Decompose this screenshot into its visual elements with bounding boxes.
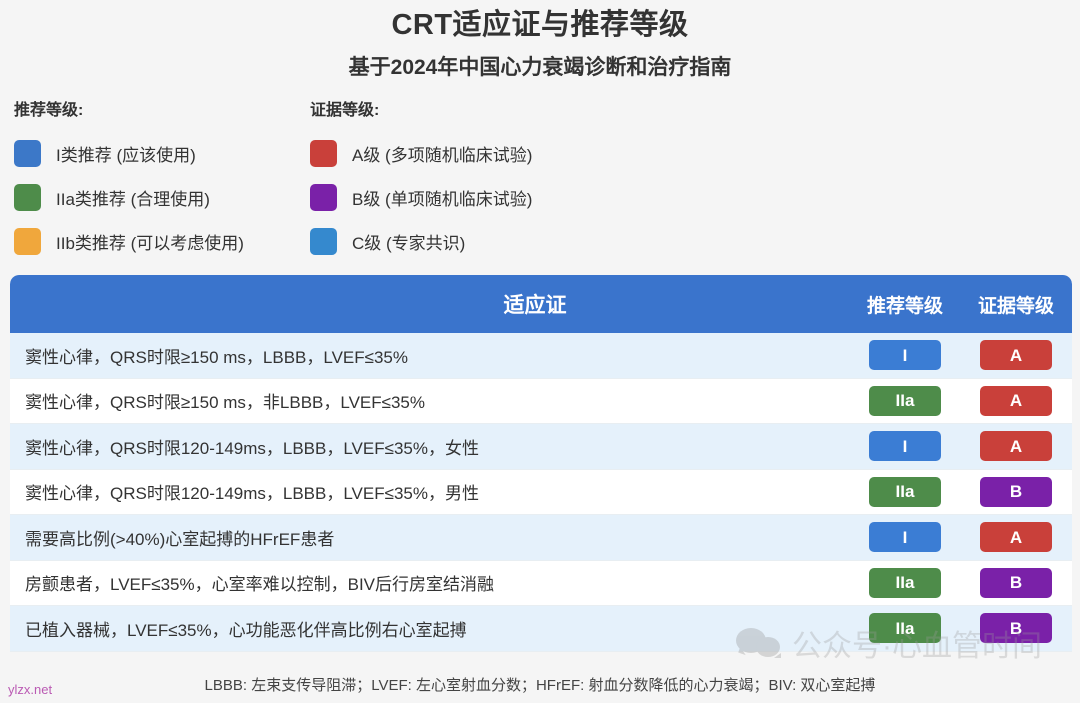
cell-evidence: A: [960, 340, 1072, 370]
footer-abbreviations: LBBB: 左束支传导阻滞；LVEF: 左心室射血分数；HFrEF: 射血分数降…: [0, 674, 1080, 695]
recommendation-badge: IIa: [869, 386, 941, 416]
evidence-badge: B: [980, 568, 1052, 598]
table-header-row: 适应证 推荐等级 证据等级: [10, 275, 1072, 333]
table-row: 窦性心律，QRS时限120-149ms，LBBB，LVEF≤35%，女性IA: [10, 424, 1072, 470]
cell-indication: 窦性心律，QRS时限120-149ms，LBBB，LVEF≤35%，男性: [10, 479, 850, 504]
legend-evidence: 证据等级: A级 (多项随机临床试验) B级 (单项随机临床试验) C级 (专家…: [310, 101, 532, 263]
cell-indication: 窦性心律，QRS时限≥150 ms，LBBB，LVEF≤35%: [10, 343, 850, 368]
legend-item-class-iia: IIa类推荐 (合理使用): [14, 175, 310, 219]
cell-indication: 已植入器械，LVEF≤35%，心功能恶化伴高比例右心室起搏: [10, 616, 850, 641]
swatch-level-b-icon: [310, 184, 337, 211]
legend-item-class-i: I类推荐 (应该使用): [14, 131, 310, 175]
page-title: CRT适应证与推荐等级: [0, 7, 1080, 43]
evidence-badge: A: [980, 386, 1052, 416]
site-watermark: ylzx.net: [8, 682, 52, 697]
table-body: 窦性心律，QRS时限≥150 ms，LBBB，LVEF≤35%IA窦性心律，QR…: [10, 333, 1072, 652]
table-row: 窦性心律，QRS时限≥150 ms，LBBB，LVEF≤35%IA: [10, 333, 1072, 379]
cell-indication: 窦性心律，QRS时限120-149ms，LBBB，LVEF≤35%，女性: [10, 434, 850, 459]
cell-recommendation: IIa: [850, 477, 960, 507]
indications-table: 适应证 推荐等级 证据等级 窦性心律，QRS时限≥150 ms，LBBB，LVE…: [10, 275, 1072, 652]
legend-item-class-iib: IIb类推荐 (可以考虑使用): [14, 219, 310, 263]
column-header-evidence: 证据等级: [960, 291, 1072, 318]
cell-evidence: A: [960, 431, 1072, 461]
cell-evidence: A: [960, 522, 1072, 552]
table-row: 需要高比例(>40%)心室起搏的HFrEF患者IA: [10, 515, 1072, 561]
cell-recommendation: I: [850, 522, 960, 552]
recommendation-badge: I: [869, 522, 941, 552]
table-row: 房颤患者，LVEF≤35%，心室率难以控制，BIV后行房室结消融IIaB: [10, 561, 1072, 607]
title-block: CRT适应证与推荐等级 基于2024年中国心力衰竭诊断和治疗指南: [0, 0, 1080, 82]
cell-recommendation: IIa: [850, 613, 960, 643]
legend-item-level-b: B级 (单项随机临床试验): [310, 175, 532, 219]
column-header-recommendation: 推荐等级: [850, 291, 960, 318]
legend-label-class-iia: IIa类推荐 (合理使用): [56, 185, 210, 210]
cell-evidence: B: [960, 568, 1072, 598]
evidence-badge: B: [980, 613, 1052, 643]
cell-recommendation: I: [850, 340, 960, 370]
swatch-level-a-icon: [310, 140, 337, 167]
cell-indication: 需要高比例(>40%)心室起搏的HFrEF患者: [10, 525, 850, 550]
recommendation-badge: IIa: [869, 568, 941, 598]
column-header-indication: 适应证: [10, 289, 850, 319]
legend-label-level-b: B级 (单项随机临床试验): [352, 185, 532, 210]
recommendation-badge: IIa: [869, 477, 941, 507]
swatch-class-iia-icon: [14, 184, 41, 211]
swatch-class-iib-icon: [14, 228, 41, 255]
recommendation-badge: I: [869, 340, 941, 370]
table-row: 窦性心律，QRS时限120-149ms，LBBB，LVEF≤35%，男性IIaB: [10, 470, 1072, 516]
recommendation-badge: IIa: [869, 613, 941, 643]
swatch-class-i-icon: [14, 140, 41, 167]
cell-recommendation: IIa: [850, 568, 960, 598]
cell-recommendation: IIa: [850, 386, 960, 416]
cell-indication: 窦性心律，QRS时限≥150 ms，非LBBB，LVEF≤35%: [10, 388, 850, 413]
legend-area: 推荐等级: I类推荐 (应该使用) IIa类推荐 (合理使用) IIb类推荐 (…: [0, 101, 1080, 263]
swatch-level-c-icon: [310, 228, 337, 255]
page-subtitle: 基于2024年中国心力衰竭诊断和治疗指南: [0, 54, 1080, 82]
cell-evidence: B: [960, 613, 1072, 643]
legend-label-class-iib: IIb类推荐 (可以考虑使用): [56, 229, 244, 254]
legend-item-level-a: A级 (多项随机临床试验): [310, 131, 532, 175]
table-row: 已植入器械，LVEF≤35%，心功能恶化伴高比例右心室起搏IIaB: [10, 606, 1072, 652]
legend-label-class-i: I类推荐 (应该使用): [56, 141, 196, 166]
cell-recommendation: I: [850, 431, 960, 461]
evidence-badge: A: [980, 340, 1052, 370]
legend-recommendation-heading: 推荐等级:: [14, 101, 310, 121]
legend-label-level-a: A级 (多项随机临床试验): [352, 141, 532, 166]
evidence-badge: A: [980, 431, 1052, 461]
recommendation-badge: I: [869, 431, 941, 461]
evidence-badge: B: [980, 477, 1052, 507]
evidence-badge: A: [980, 522, 1052, 552]
table-row: 窦性心律，QRS时限≥150 ms，非LBBB，LVEF≤35%IIaA: [10, 379, 1072, 425]
legend-label-level-c: C级 (专家共识): [352, 229, 465, 254]
legend-recommendation: 推荐等级: I类推荐 (应该使用) IIa类推荐 (合理使用) IIb类推荐 (…: [14, 101, 310, 263]
cell-indication: 房颤患者，LVEF≤35%，心室率难以控制，BIV后行房室结消融: [10, 570, 850, 595]
legend-evidence-heading: 证据等级:: [310, 101, 532, 121]
legend-item-level-c: C级 (专家共识): [310, 219, 532, 263]
cell-evidence: A: [960, 386, 1072, 416]
cell-evidence: B: [960, 477, 1072, 507]
